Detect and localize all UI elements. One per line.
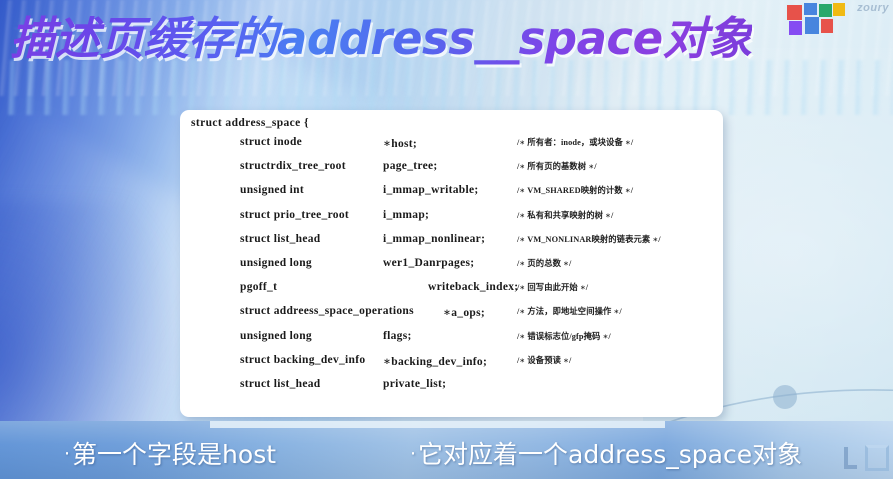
subtitle-text: 它对应着一个address_space对象 — [418, 440, 802, 469]
subtitle-item: ·第一个字段是host — [64, 435, 276, 471]
field-type: pgoff_t — [240, 281, 277, 293]
field-name: ∗a_ops; — [443, 305, 485, 319]
struct-declaration: struct address_space { — [191, 117, 309, 129]
title-band: 描述页缓存的address__space对象 描述页缓存的address__sp… — [0, 0, 893, 72]
field-name: private_list; — [383, 378, 446, 390]
field-name: i_mmap_nonlinear; — [383, 233, 485, 245]
struct-field-row: struct list_headi_mmap_nonlinear;/∗ VM_N… — [180, 233, 723, 257]
field-comment: /∗ 错误标志位/gfp掩码 ∗/ — [517, 330, 611, 342]
field-name: wer1_Danrpages; — [383, 257, 474, 269]
field-name: flags; — [383, 330, 412, 342]
struct-field-row: struct addreess_space_operations∗a_ops;/… — [180, 305, 723, 329]
field-type: unsigned long — [240, 330, 312, 342]
struct-field-row: structrdix_tree_rootpage_tree;/∗ 所有页的基数树… — [180, 160, 723, 184]
slide-root: 描述页缓存的address__space对象 描述页缓存的address__sp… — [0, 0, 893, 479]
field-comment: /∗ VM_SHARED映射的计数 ∗/ — [517, 184, 633, 196]
struct-field-row: unsigned longflags;/∗ 错误标志位/gfp掩码 ∗/ — [180, 330, 723, 354]
field-name: writeback_index; — [428, 281, 518, 293]
logo-watermark: zoury — [857, 2, 889, 14]
field-type: struct list_head — [240, 378, 321, 390]
struct-field-row: unsigned inti_mmap_writable;/∗ VM_SHARED… — [180, 184, 723, 208]
field-type: structrdix_tree_root — [240, 160, 346, 172]
field-type: struct addreess_space_operations — [240, 305, 414, 317]
field-comment: /∗ 设备预读 ∗/ — [517, 354, 571, 366]
field-comment: /∗ 私有和共享映射的树 ∗/ — [517, 209, 613, 221]
field-type: struct prio_tree_root — [240, 209, 349, 221]
field-comment: /∗ 所有页的基数树 ∗/ — [517, 160, 597, 172]
struct-field-row: struct backing_dev_info∗backing_dev_info… — [180, 354, 723, 378]
field-type: struct backing_dev_info — [240, 354, 365, 366]
struct-field-row: struct inode∗host;/∗ 所有者：inode，或块设备 ∗/ — [180, 136, 723, 160]
struct-field-row: unsigned longwer1_Danrpages;/∗ 页的总数 ∗/ — [180, 257, 723, 281]
field-type: unsigned long — [240, 257, 312, 269]
struct-field-row: struct prio_tree_rooti_mmap;/∗ 私有和共享映射的树… — [180, 209, 723, 233]
field-name: ∗backing_dev_info; — [383, 354, 487, 368]
field-name: i_mmap; — [383, 209, 429, 221]
subtitle-text: 第一个字段是host — [72, 440, 276, 469]
field-comment: /∗ 所有者：inode，或块设备 ∗/ — [517, 136, 633, 148]
field-type: unsigned int — [240, 184, 304, 196]
struct-field-list: struct inode∗host;/∗ 所有者：inode，或块设备 ∗/st… — [180, 136, 723, 402]
subtitle-bar: ·第一个字段是host·它对应着一个address_space对象 — [0, 421, 893, 479]
corner-bracket-icon — [844, 447, 857, 469]
field-type: struct inode — [240, 136, 302, 148]
field-type: struct list_head — [240, 233, 321, 245]
code-block: struct address_space { struct inode∗host… — [180, 110, 723, 417]
page-title: 描述页缓存的address__space对象 — [10, 2, 752, 67]
bullet-icon: · — [64, 443, 70, 465]
struct-field-row: pgoff_twriteback_index;/∗ 回写由此开始 ∗/ — [180, 281, 723, 305]
subtitle-item: ·它对应着一个address_space对象 — [410, 435, 802, 471]
field-name: ∗host; — [383, 136, 417, 150]
field-comment: /∗ 回写由此开始 ∗/ — [517, 281, 588, 293]
field-name: page_tree; — [383, 160, 438, 172]
code-panel: struct address_space { struct inode∗host… — [180, 110, 723, 417]
field-comment: /∗ VM_NONLINAR映射的链表元素 ∗/ — [517, 233, 661, 245]
field-comment: /∗ 方法，即地址空间操作 ∗/ — [517, 305, 622, 317]
field-comment: /∗ 页的总数 ∗/ — [517, 257, 571, 269]
struct-field-row: struct list_headprivate_list; — [180, 378, 723, 402]
bullet-icon: · — [410, 443, 416, 465]
field-name: i_mmap_writable; — [383, 184, 479, 196]
corner-square-icon — [865, 445, 889, 471]
subtitle-bar-notch — [210, 421, 665, 428]
